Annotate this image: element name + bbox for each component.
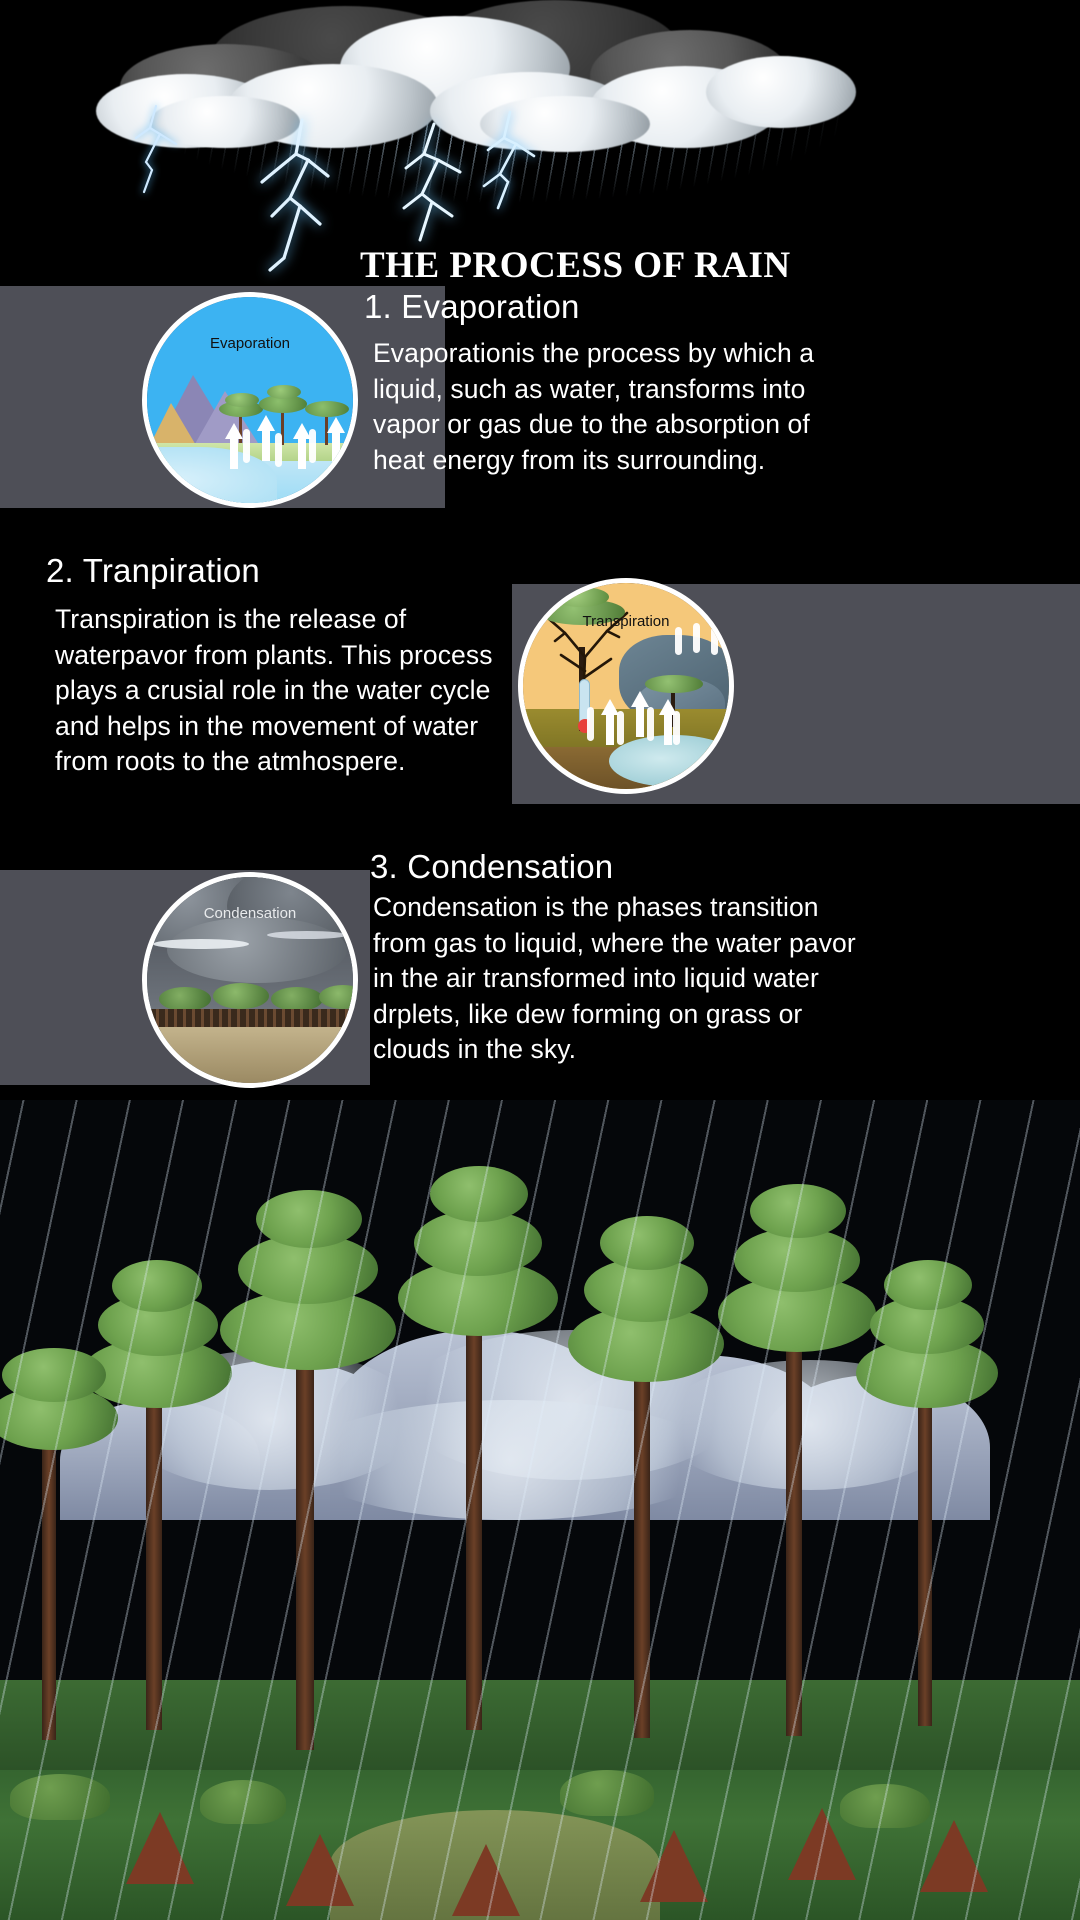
tree-icon xyxy=(750,1184,846,1238)
tree-icon xyxy=(319,985,358,1009)
up-arrow-icon xyxy=(257,415,275,431)
tree-icon xyxy=(225,393,259,407)
tree-icon xyxy=(2,1348,106,1402)
condensation-illustration: Condensation xyxy=(142,872,358,1088)
tree-icon xyxy=(918,1396,932,1726)
lightning-bolt-icon xyxy=(120,106,200,196)
bush-icon xyxy=(840,1784,930,1828)
section-2-heading: 2. Tranpiration xyxy=(46,552,260,590)
tree-icon xyxy=(146,1400,162,1730)
lightning-bolt-icon xyxy=(250,120,370,270)
vapor-icon xyxy=(647,707,654,741)
up-arrow-icon xyxy=(327,417,345,433)
up-arrow-icon xyxy=(225,423,243,439)
vapor-icon xyxy=(711,627,718,655)
tree-icon xyxy=(553,587,609,607)
mist-icon xyxy=(300,1400,720,1520)
vapor-icon xyxy=(673,711,680,745)
storm-cloud-icon xyxy=(167,917,347,983)
evaporation-illustration: Evaporation xyxy=(142,292,358,508)
tree-icon xyxy=(884,1260,972,1310)
lightning-bolt-icon xyxy=(470,112,560,212)
mist-icon xyxy=(267,931,347,939)
tree-icon xyxy=(213,983,269,1009)
tree-icon xyxy=(267,385,301,399)
mountain-icon xyxy=(149,403,197,447)
section-1-body: Evaporationis the process by which a liq… xyxy=(373,336,835,478)
tree-icon xyxy=(786,1336,802,1736)
transpiration-illustration: Transpiration xyxy=(518,578,734,794)
tree-icon xyxy=(42,1440,56,1740)
up-arrow-icon xyxy=(631,691,649,707)
tree-icon xyxy=(634,1368,650,1738)
tree-icon xyxy=(640,1830,708,1902)
section-3-body: Condensation is the phases transition fr… xyxy=(373,890,873,1068)
tree-icon xyxy=(600,1216,694,1270)
tree-icon xyxy=(430,1166,528,1222)
circle-caption: Evaporation xyxy=(147,335,353,352)
tree-icon xyxy=(920,1820,988,1892)
section-2-body: Transpiration is the release of waterpav… xyxy=(55,602,525,780)
storm-cloud-icon xyxy=(706,56,856,128)
tree-icon xyxy=(305,401,349,417)
vapor-icon xyxy=(243,429,250,463)
vapor-icon xyxy=(587,707,594,741)
tree-icon xyxy=(271,987,323,1011)
tree-icon xyxy=(256,1190,362,1248)
tree-icon xyxy=(112,1260,202,1312)
bush-icon xyxy=(560,1770,654,1816)
tree-icon xyxy=(452,1844,520,1916)
tree-icon xyxy=(286,1834,354,1906)
vapor-icon xyxy=(309,429,316,463)
mist-icon xyxy=(153,939,249,949)
bush-icon xyxy=(200,1780,286,1824)
circle-caption: Transpiration xyxy=(523,613,729,630)
tree-icon xyxy=(296,1350,314,1750)
vapor-icon xyxy=(675,627,682,655)
page-title: THE PROCESS OF RAIN xyxy=(360,244,920,287)
tree-icon xyxy=(159,987,211,1011)
circle-caption: Condensation xyxy=(147,905,353,922)
bush-icon xyxy=(10,1774,110,1820)
tree-icon xyxy=(645,675,703,693)
tree-icon xyxy=(466,1320,482,1730)
vapor-icon xyxy=(275,433,282,467)
section-3-heading: 3. Condensation xyxy=(370,848,613,886)
forest-rain-scene xyxy=(0,1100,1080,1920)
vapor-icon xyxy=(617,711,624,745)
section-1-heading: 1. Evaporation xyxy=(364,288,580,326)
ground xyxy=(147,1027,353,1083)
tree-icon xyxy=(126,1812,194,1884)
